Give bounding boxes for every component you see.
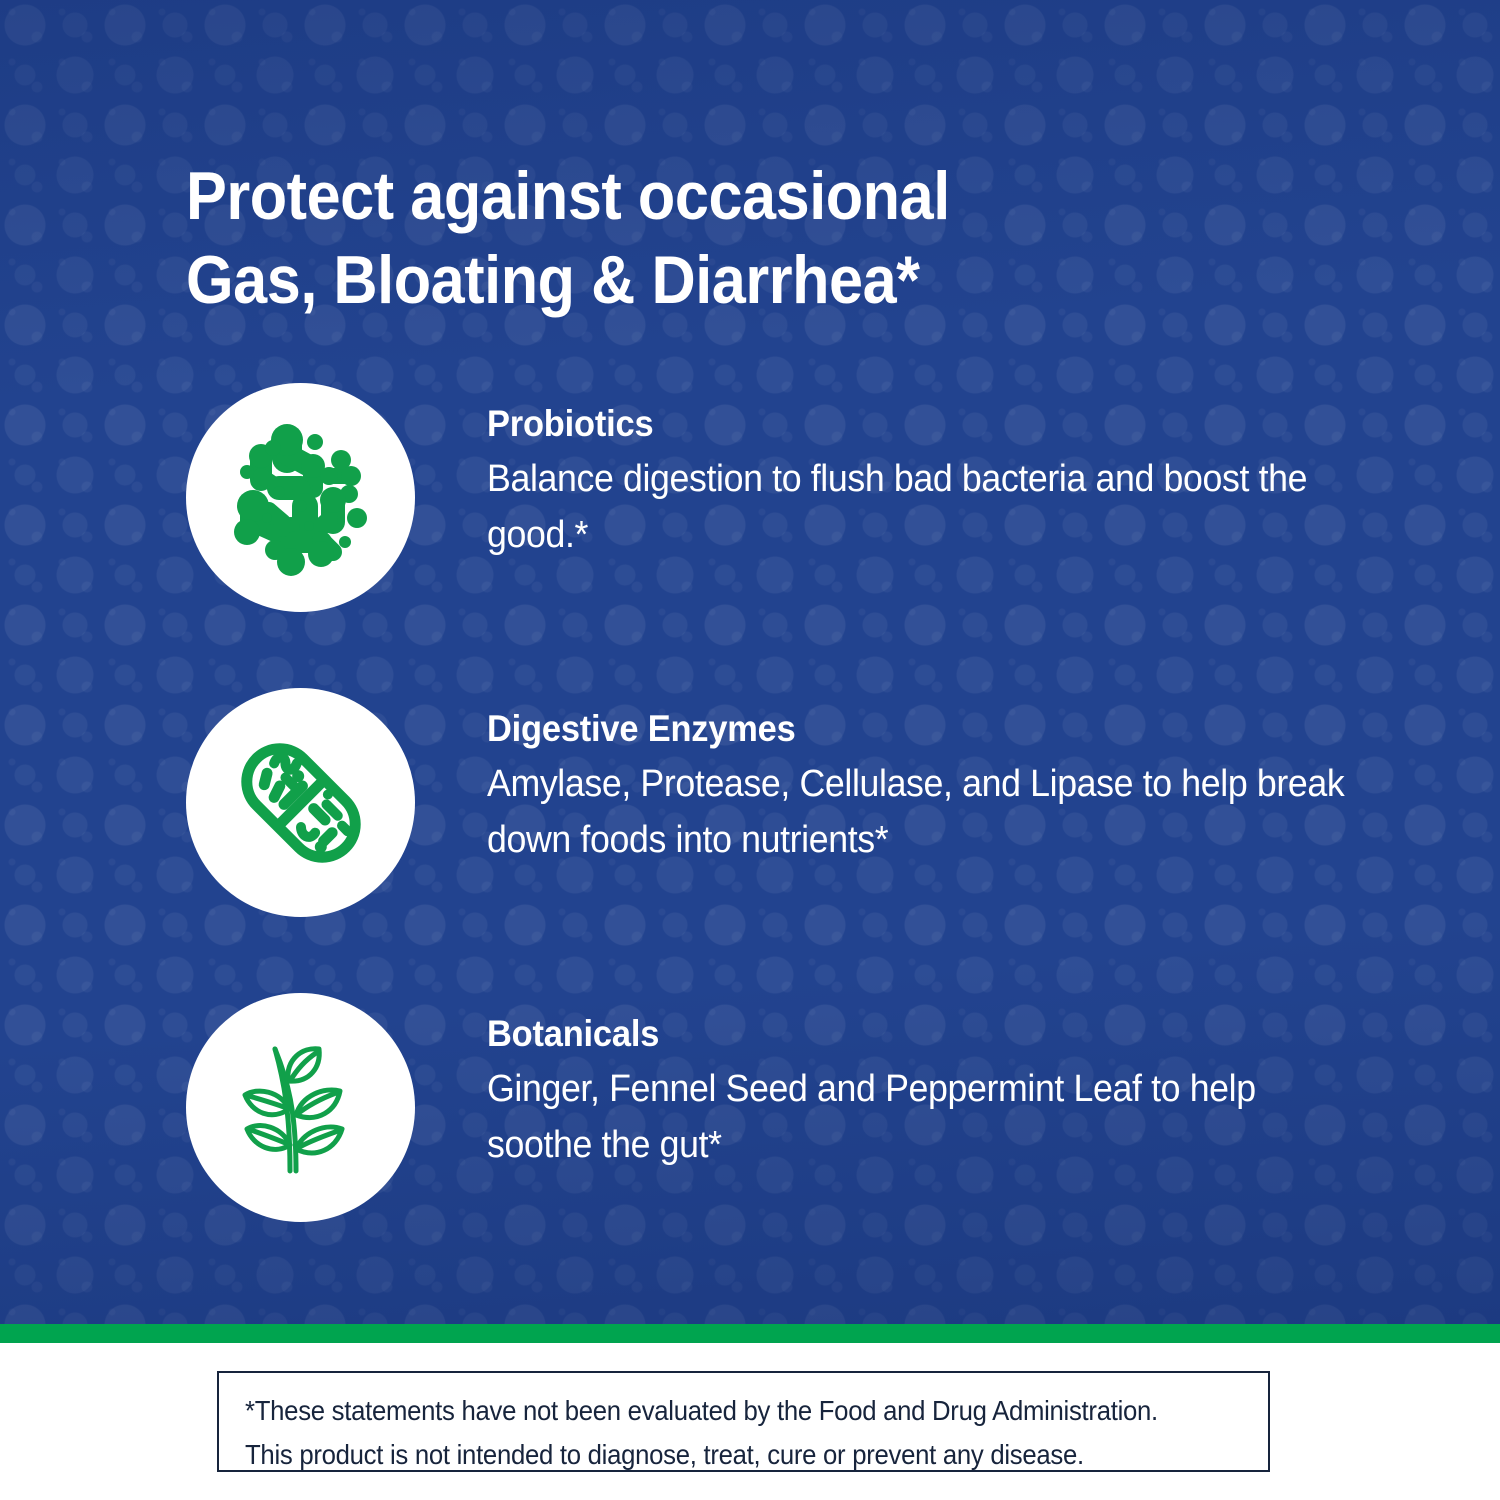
- feature-title-digestive-enzymes: Digestive Enzymes: [487, 706, 1304, 752]
- botanical-plant-sprig-icon: [226, 1033, 376, 1183]
- page-title-line-2: Gas, Bloating & Diarrhea*: [186, 238, 1221, 322]
- feature-desc-digestive-enzymes: Amylase, Protease, Cellulase, and Lipase…: [487, 756, 1363, 868]
- feature-title-probiotics: Probiotics: [487, 401, 1304, 447]
- page-title: Protect against occasional Gas, Bloating…: [186, 154, 1221, 322]
- feature-desc-botanicals: Ginger, Fennel Seed and Peppermint Leaf …: [487, 1061, 1363, 1173]
- feature-row-botanicals: Botanicals Ginger, Fennel Seed and Peppe…: [186, 993, 1366, 1223]
- feature-text-probiotics: Probiotics Balance digestion to flush ba…: [415, 383, 1366, 563]
- page-title-line-1: Protect against occasional: [186, 154, 1221, 238]
- feature-desc-line-1: Amylase, Protease, Cellulase, and Lipase…: [487, 763, 1172, 805]
- infographic-poster: Protect against occasional Gas, Bloating…: [0, 0, 1500, 1500]
- feature-row-probiotics: Probiotics Balance digestion to flush ba…: [186, 383, 1366, 613]
- feature-text-botanicals: Botanicals Ginger, Fennel Seed and Peppe…: [415, 993, 1366, 1173]
- probiotics-microbe-cluster-icon: [217, 414, 385, 582]
- fda-disclaimer-line-1: *These statements have not been evaluate…: [245, 1389, 1181, 1433]
- icon-badge-botanicals: [186, 993, 415, 1222]
- icon-badge-probiotics: [186, 383, 415, 612]
- fda-disclaimer-line-2: This product is not intended to diagnose…: [245, 1433, 1181, 1477]
- green-divider-bar: [0, 1324, 1500, 1343]
- feature-row-digestive-enzymes: Digestive Enzymes Amylase, Protease, Cel…: [186, 688, 1366, 918]
- feature-text-digestive-enzymes: Digestive Enzymes Amylase, Protease, Cel…: [415, 688, 1366, 868]
- feature-desc-probiotics: Balance digestion to flush bad bacteria …: [487, 451, 1363, 563]
- icon-badge-digestive-enzymes: [186, 688, 415, 917]
- digestive-enzyme-capsule-icon: [222, 724, 380, 882]
- feature-desc-line-1: Ginger, Fennel Seed and Peppermint Leaf: [487, 1068, 1142, 1110]
- fda-disclaimer-box: *These statements have not been evaluate…: [217, 1371, 1270, 1472]
- fda-disclaimer-text: *These statements have not been evaluate…: [245, 1389, 1181, 1477]
- feature-title-botanicals: Botanicals: [487, 1011, 1304, 1057]
- feature-desc-line-1: Balance digestion to flush bad bacteria …: [487, 458, 1154, 500]
